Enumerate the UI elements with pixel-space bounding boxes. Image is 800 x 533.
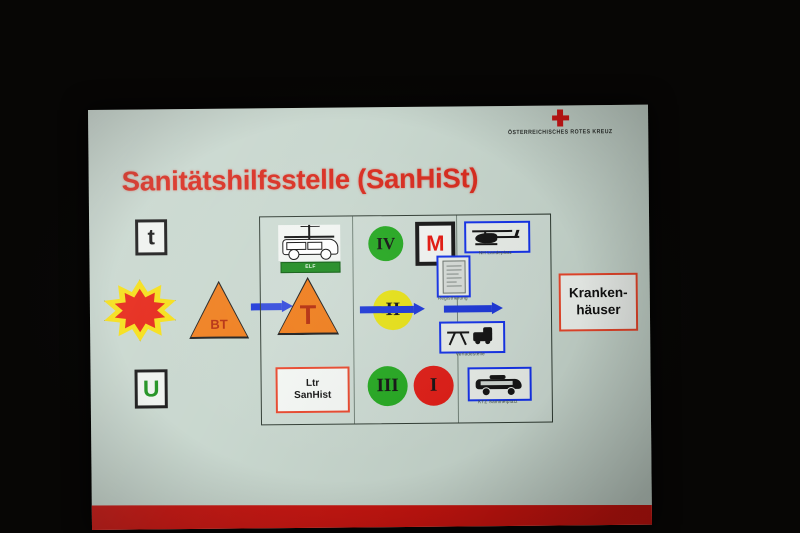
red-cross-logo: ÖSTERREICHISCHES ROTES KREUZ	[494, 109, 626, 136]
helicopter-body-icon	[475, 233, 497, 243]
arrow-head	[414, 303, 425, 315]
stretcher-icon	[447, 328, 469, 344]
leader-line2: SanHist	[294, 390, 331, 403]
command-vehicle-icon	[278, 225, 340, 262]
registration-photo	[436, 255, 470, 297]
stretcher-leg2-icon	[460, 333, 467, 346]
red-cross-icon	[552, 109, 569, 126]
triage-category-i: I	[413, 366, 453, 406]
leader-line1: Ltr	[306, 377, 319, 390]
helicopter-landing-photo	[464, 221, 530, 254]
triage-category-iii: III	[367, 366, 407, 406]
stretcher-top-icon	[447, 331, 469, 334]
arrow-shaft	[360, 305, 414, 313]
arrow-to-hospitals	[444, 302, 504, 315]
antenna-icon	[300, 226, 320, 234]
treatment-point-label: BT	[189, 316, 249, 332]
wheel-front-icon	[288, 249, 299, 260]
command-vehicle: ELF	[278, 225, 340, 274]
arrow-shaft	[444, 305, 492, 312]
arrow-triage-to-transport	[360, 303, 426, 316]
loading-point-caption: Verladestelle	[439, 351, 501, 357]
helicopter-icon	[471, 228, 523, 245]
sanhist-frame: ELF T Ltr SanHist IV M II III I	[259, 214, 553, 426]
slide-title: Sanitätshilfsstelle (SanHiSt)	[122, 162, 479, 197]
hospitals-box: Kranken- häuser	[559, 273, 639, 332]
room-background: ÖSTERREICHISCHES ROTES KREUZ Sanitätshil…	[0, 0, 800, 533]
helicopter-skid-icon	[475, 243, 497, 245]
sanhist-triangle-label: T	[277, 302, 339, 327]
hospitals-line2: häuser	[576, 302, 620, 319]
transport-marker-t: t	[135, 219, 167, 255]
vehicle-window-icon	[286, 241, 306, 249]
incident-site-starburst	[104, 279, 177, 342]
wheel-rear-icon	[320, 249, 331, 260]
organisation-name: ÖSTERREICHISCHES ROTES KREUZ	[494, 128, 626, 136]
triage-category-iv: IV	[368, 226, 403, 261]
column-divider-2	[456, 215, 459, 422]
cart-wheel2-icon	[485, 339, 490, 344]
registration-caption: Registrierung	[431, 295, 475, 300]
ambulance-window-icon	[481, 381, 513, 385]
loading-point-photo	[439, 321, 505, 354]
projection-slide: ÖSTERREICHISCHES ROTES KREUZ Sanitätshil…	[88, 105, 652, 530]
vehicle-window2-icon	[307, 241, 322, 249]
collection-point-u: U	[134, 369, 167, 408]
ambulance-icon	[476, 375, 522, 393]
transport-cart-icon	[473, 327, 495, 344]
column-divider-1	[352, 216, 355, 423]
stretcher-leg1-icon	[449, 333, 456, 346]
hospitals-line1: Kranken-	[569, 285, 628, 302]
vehicle-assembly-caption: KTZ Sammelplatz	[462, 399, 534, 405]
ambulance-wheel1-icon	[482, 387, 491, 396]
treatment-point-bt: BT	[189, 280, 250, 339]
arrow-head	[492, 302, 503, 314]
leader-sanhist-box: Ltr SanHist	[275, 367, 349, 414]
ambulance-wheel2-icon	[507, 387, 516, 396]
form-icon	[442, 260, 465, 293]
sanhist-triangle: T	[277, 277, 340, 336]
sanhist-diagram: t BT U	[111, 213, 633, 428]
vehicle-assembly-photo	[467, 367, 531, 402]
cart-wheel1-icon	[475, 339, 480, 344]
command-vehicle-tag-label: ELF	[281, 263, 339, 273]
helicopter-landing-caption: NH Landeplatz	[464, 250, 526, 256]
command-vehicle-tag: ELF	[280, 262, 340, 274]
